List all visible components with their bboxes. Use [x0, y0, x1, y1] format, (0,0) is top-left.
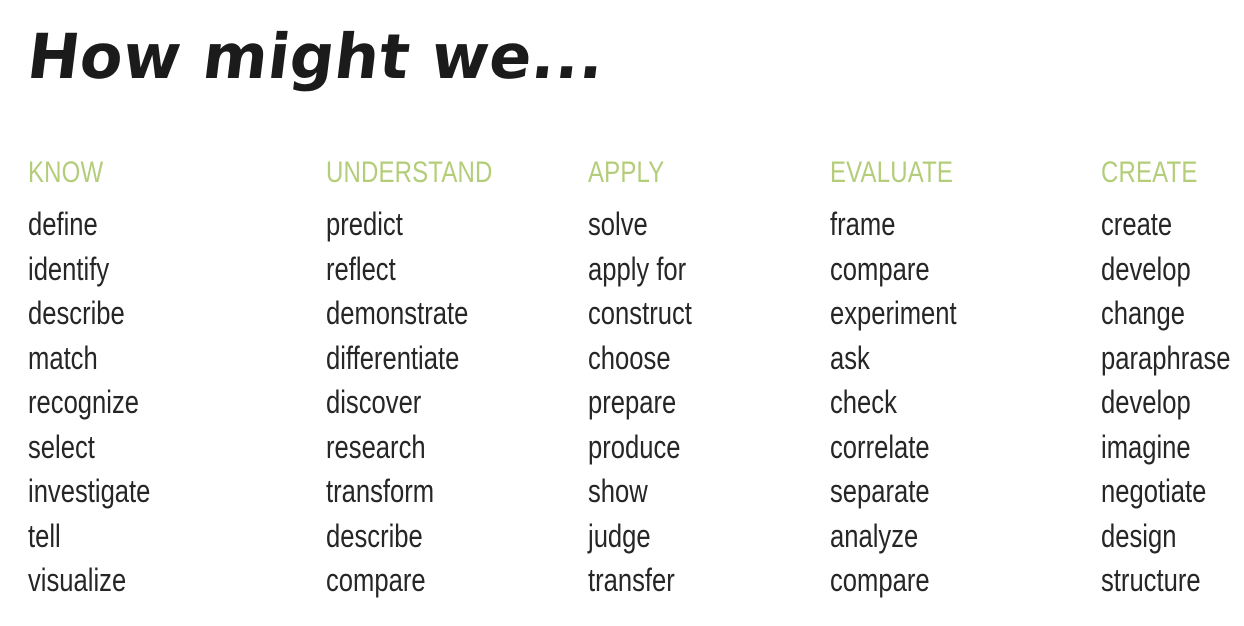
list-item: differentiate	[326, 336, 536, 381]
column-know: KNOW define identify describe match reco…	[28, 155, 326, 603]
column-header-know: KNOW	[28, 155, 266, 191]
verb-columns: KNOW define identify describe match reco…	[0, 155, 1244, 626]
list-item: define	[28, 202, 266, 247]
verb-list-know: define identify describe match recognize…	[28, 202, 326, 603]
list-item: create	[1101, 202, 1244, 247]
list-item: choose	[588, 336, 782, 381]
list-item: research	[326, 425, 536, 470]
list-item: ask	[830, 336, 1048, 381]
list-item: reflect	[326, 247, 536, 292]
list-item: investigate	[28, 469, 266, 514]
column-header-create: CREATE	[1101, 155, 1244, 191]
list-item: compare	[830, 558, 1048, 603]
list-item: analyze	[830, 514, 1048, 559]
column-header-evaluate: EVALUATE	[830, 155, 1048, 191]
list-item: correlate	[830, 425, 1048, 470]
column-apply: APPLY solve apply for construct choose p…	[588, 155, 830, 603]
list-item: transfer	[588, 558, 782, 603]
list-item: describe	[28, 291, 266, 336]
list-item: separate	[830, 469, 1048, 514]
list-item: develop	[1101, 247, 1244, 292]
list-item: frame	[830, 202, 1048, 247]
list-item: apply for	[588, 247, 782, 292]
list-item: compare	[830, 247, 1048, 292]
list-item: check	[830, 380, 1048, 425]
list-item: transform	[326, 469, 536, 514]
list-item: experiment	[830, 291, 1048, 336]
list-item: compare	[326, 558, 536, 603]
list-item: predict	[326, 202, 536, 247]
list-item: paraphrase	[1101, 336, 1244, 381]
list-item: tell	[28, 514, 266, 559]
list-item: change	[1101, 291, 1244, 336]
list-item: prepare	[588, 380, 782, 425]
list-item: structure	[1101, 558, 1244, 603]
how-might-we-poster: How might we... KNOW define identify des…	[0, 0, 1244, 626]
list-item: develop	[1101, 380, 1244, 425]
verb-list-create: create develop change paraphrase develop…	[1101, 202, 1244, 603]
list-item: demonstrate	[326, 291, 536, 336]
column-evaluate: EVALUATE frame compare experiment ask ch…	[830, 155, 1102, 603]
column-header-understand: UNDERSTAND	[326, 155, 536, 191]
verb-list-understand: predict reflect demonstrate differentiat…	[326, 202, 588, 603]
list-item: identify	[28, 247, 266, 292]
list-item: match	[28, 336, 266, 381]
list-item: imagine	[1101, 425, 1244, 470]
list-item: design	[1101, 514, 1244, 559]
verb-list-evaluate: frame compare experiment ask check corre…	[830, 202, 1102, 603]
list-item: solve	[588, 202, 782, 247]
list-item: negotiate	[1101, 469, 1244, 514]
column-create: CREATE create develop change paraphrase …	[1101, 155, 1244, 603]
list-item: show	[588, 469, 782, 514]
list-item: recognize	[28, 380, 266, 425]
list-item: discover	[326, 380, 536, 425]
list-item: judge	[588, 514, 782, 559]
column-header-apply: APPLY	[588, 155, 782, 191]
list-item: visualize	[28, 558, 266, 603]
list-item: produce	[588, 425, 782, 470]
list-item: describe	[326, 514, 536, 559]
verb-list-apply: solve apply for construct choose prepare…	[588, 202, 830, 603]
list-item: select	[28, 425, 266, 470]
list-item: construct	[588, 291, 782, 336]
page-title: How might we...	[24, 24, 608, 89]
column-understand: UNDERSTAND predict reflect demonstrate d…	[326, 155, 588, 603]
